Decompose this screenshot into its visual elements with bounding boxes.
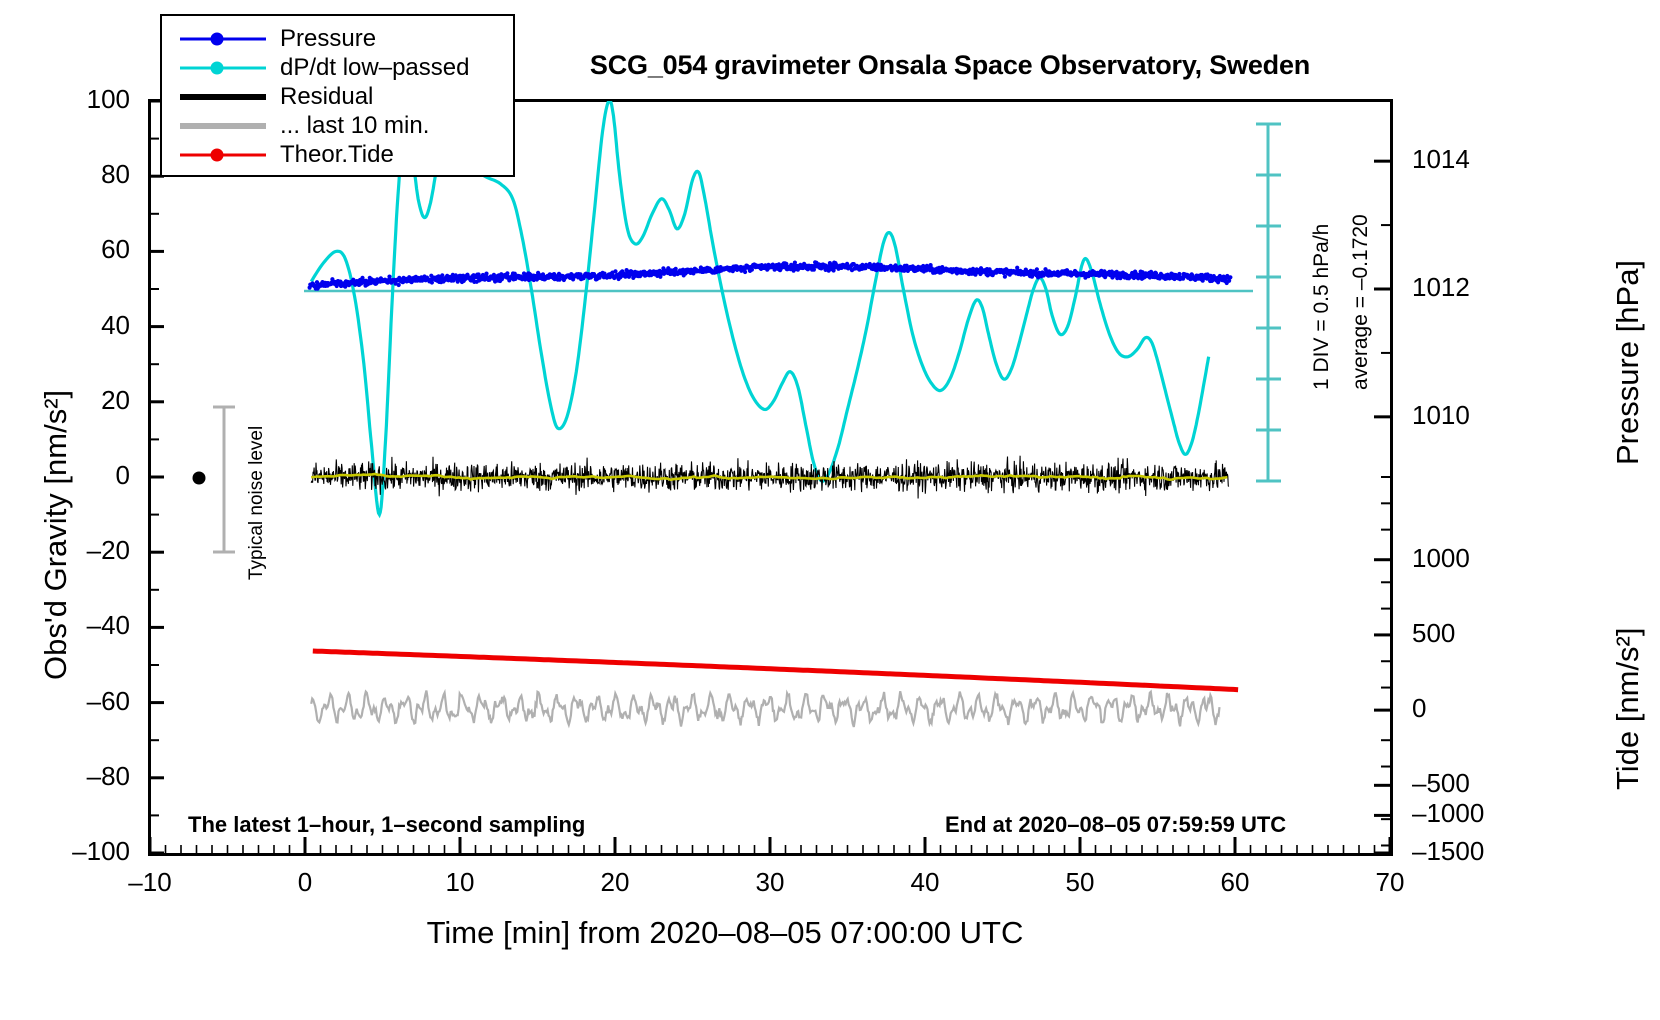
noise-level-bar <box>193 407 236 552</box>
x-tick-label: 70 <box>1330 867 1450 898</box>
y-tick-label: –20 <box>10 535 130 566</box>
y-tick-label: 40 <box>10 310 130 341</box>
legend-swatch <box>180 147 266 163</box>
legend-dot <box>211 32 224 45</box>
x-tick-label: 10 <box>400 867 520 898</box>
y-tick-label: 60 <box>10 234 130 265</box>
legend-label: Pressure <box>280 25 376 53</box>
x-tick-label: 0 <box>245 867 365 898</box>
legend: PressuredP/dt low–passedResidual... last… <box>160 14 515 177</box>
y-tick-label: 0 <box>10 460 130 491</box>
pressure-tick-label: 1012 <box>1412 272 1552 303</box>
x-tick-label: –10 <box>90 867 210 898</box>
pressure-tick-label: 1010 <box>1412 400 1552 431</box>
footer-right-text: End at 2020–08–05 07:59:59 UTC <box>945 812 1286 838</box>
legend-item-3: ... last 10 min. <box>180 111 513 140</box>
y-tick-label: 20 <box>10 385 130 416</box>
legend-label: dP/dt low–passed <box>280 54 469 82</box>
y-axis-ticks-left <box>150 101 164 853</box>
pressure-tick-label: 1014 <box>1412 144 1552 175</box>
legend-swatch <box>180 60 266 76</box>
div-scale-bar <box>1256 124 1281 481</box>
legend-line <box>180 123 266 129</box>
y-tick-label: 100 <box>10 84 130 115</box>
series-tide-line <box>313 651 1238 690</box>
legend-swatch <box>180 89 266 105</box>
legend-label: Residual <box>280 83 373 111</box>
legend-swatch <box>180 118 266 134</box>
legend-dot <box>211 61 224 74</box>
y-axis-ticks-right <box>1374 161 1390 853</box>
series-last10-line <box>311 691 1219 727</box>
y-tick-label: –60 <box>10 686 130 717</box>
y-tick-label: –80 <box>10 761 130 792</box>
y-tick-label: 80 <box>10 159 130 190</box>
x-tick-label: 60 <box>1175 867 1295 898</box>
legend-label: Theor.Tide <box>280 141 394 169</box>
legend-item-4: Theor.Tide <box>180 140 513 169</box>
y-tick-label: –40 <box>10 610 130 641</box>
legend-line <box>180 94 266 100</box>
tide-tick-label: –1000 <box>1412 798 1552 829</box>
x-tick-label: 30 <box>710 867 830 898</box>
tide-tick-label: 1000 <box>1412 543 1552 574</box>
x-tick-label: 20 <box>555 867 675 898</box>
legend-item-1: dP/dt low–passed <box>180 53 513 82</box>
footer-left-text: The latest 1–hour, 1–second sampling <box>188 812 585 838</box>
tide-tick-label: –1500 <box>1412 836 1552 867</box>
x-tick-label: 40 <box>865 867 985 898</box>
legend-item-0: Pressure <box>180 24 513 53</box>
legend-swatch <box>180 31 266 47</box>
x-axis-ticks-bottom <box>150 837 1390 853</box>
div-scale-label: 1 DIV = 0.5 hPa/h <box>1310 224 1334 390</box>
legend-dot <box>211 148 224 161</box>
y-tick-label: –100 <box>10 836 130 867</box>
legend-label: ... last 10 min. <box>280 112 429 140</box>
average-label: average = –0.1720 <box>1349 214 1373 390</box>
tide-tick-label: 500 <box>1412 618 1552 649</box>
noise-level-label: Typical noise level <box>246 426 268 580</box>
tide-tick-label: –500 <box>1412 768 1552 799</box>
legend-item-2: Residual <box>180 82 513 111</box>
tide-tick-label: 0 <box>1412 693 1552 724</box>
x-tick-label: 50 <box>1020 867 1140 898</box>
series-pressure-dots <box>308 260 1233 291</box>
